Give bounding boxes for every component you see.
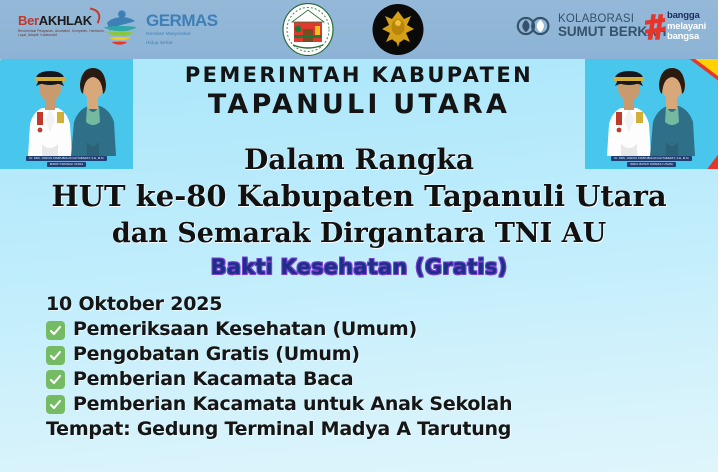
- service-label: Pengobatan Gratis (Umum): [73, 344, 360, 366]
- service-label: Pemeriksaan Kesehatan (Umum): [73, 319, 417, 341]
- germas-mark-icon: [100, 9, 142, 49]
- berakhlak-logo: BerAKHLAK Berorientasi Pelayanan, Akunta…: [18, 14, 110, 38]
- check-icon: [46, 321, 65, 340]
- kolaborasi-sumut-berkah-logo: KOLABORASI SUMUT BERKAH: [516, 13, 666, 39]
- berakhlak-word-ber: Ber: [18, 13, 39, 28]
- list-item: Pengobatan Gratis (Umum): [46, 344, 512, 366]
- service-label: Pemberian Kacamata untuk Anak Sekolah: [73, 394, 512, 416]
- photo-card-bupati: Dr. DRS. JONIUS TAMPUBOLON HUTABARAT, S.…: [0, 59, 133, 169]
- germas-wordmark: GERMAS: [146, 12, 218, 29]
- hash-icon: [645, 12, 665, 42]
- germas-logo: GERMAS Gerakan Masyarakat Hidup Sehat: [100, 9, 218, 49]
- tni-au-emblem: [372, 3, 424, 56]
- event-venue: Tempat: Gedung Terminal Madya A Tarutung: [46, 419, 512, 441]
- service-label: Pemberian Kacamata Baca: [73, 369, 353, 391]
- details-list: 10 Oktober 2025 Pemeriksaan Kesehatan (U…: [46, 294, 512, 440]
- official-female-portrait: [68, 60, 118, 156]
- check-icon: [46, 370, 65, 389]
- official-female-portrait: [647, 60, 697, 156]
- list-item: Pemeriksaan Kesehatan (Umum): [46, 319, 512, 341]
- event-highlight-badge: Bakti Kesehatan (Gratis): [0, 255, 718, 279]
- event-line-3: dan Semarak Dirgantara TNI AU: [0, 216, 718, 251]
- photo-caption-left: Dr. DRS. JONIUS TAMPUBOLON HUTABARAT, S.…: [0, 154, 133, 169]
- kolaborasi-infinity-icon: [516, 16, 552, 36]
- berakhlak-subtitle: Berorientasi Pelayanan, Akuntabel, Kompe…: [18, 29, 110, 38]
- tni-au-emblem-icon: [372, 3, 424, 56]
- list-item: Pemberian Kacamata untuk Anak Sekolah: [46, 394, 512, 416]
- logo-bar: BerAKHLAK Berorientasi Pelayanan, Akunta…: [0, 0, 718, 59]
- event-date: 10 Oktober 2025: [46, 294, 512, 315]
- caption-name-left: Dr. DRS. JONIUS TAMPUBOLON HUTABARAT, S.…: [26, 156, 106, 161]
- germas-subtitle-2: Hidup Sehat: [146, 40, 218, 47]
- kabupaten-tapanuli-utara-seal: [282, 3, 334, 56]
- caption-name-right: Dr. DRS. JONIUS TAMPUBOLON HUTABARAT, S.…: [611, 156, 691, 161]
- caption-title-left: BUPATI TAPANULI UTARA: [47, 162, 86, 167]
- germas-subtitle-1: Gerakan Masyarakat: [146, 31, 218, 38]
- photo-card-wakil-bupati: Dr. DRS. JONIUS TAMPUBOLON HUTABARAT, S.…: [585, 59, 718, 169]
- check-icon: [46, 395, 65, 414]
- bangga-line-3: bangsa: [667, 32, 706, 43]
- berakhlak-word-akhlak: AKHLAK: [39, 13, 92, 28]
- photo-caption-right: Dr. DRS. JONIUS TAMPUBOLON HUTABARAT, S.…: [585, 154, 718, 169]
- caption-title-right: WAKIL BUPATI TAPANULI UTARA: [627, 162, 676, 167]
- kabupaten-seal-icon: [282, 3, 334, 56]
- event-line-2: HUT ke-80 Kabupaten Tapanuli Utara: [0, 178, 718, 216]
- poster-canvas: BerAKHLAK Berorientasi Pelayanan, Akunta…: [0, 0, 718, 472]
- bangga-melayani-bangsa-logo: bangga melayani bangsa: [645, 11, 706, 43]
- check-icon: [46, 346, 65, 365]
- list-item: Pemberian Kacamata Baca: [46, 369, 512, 391]
